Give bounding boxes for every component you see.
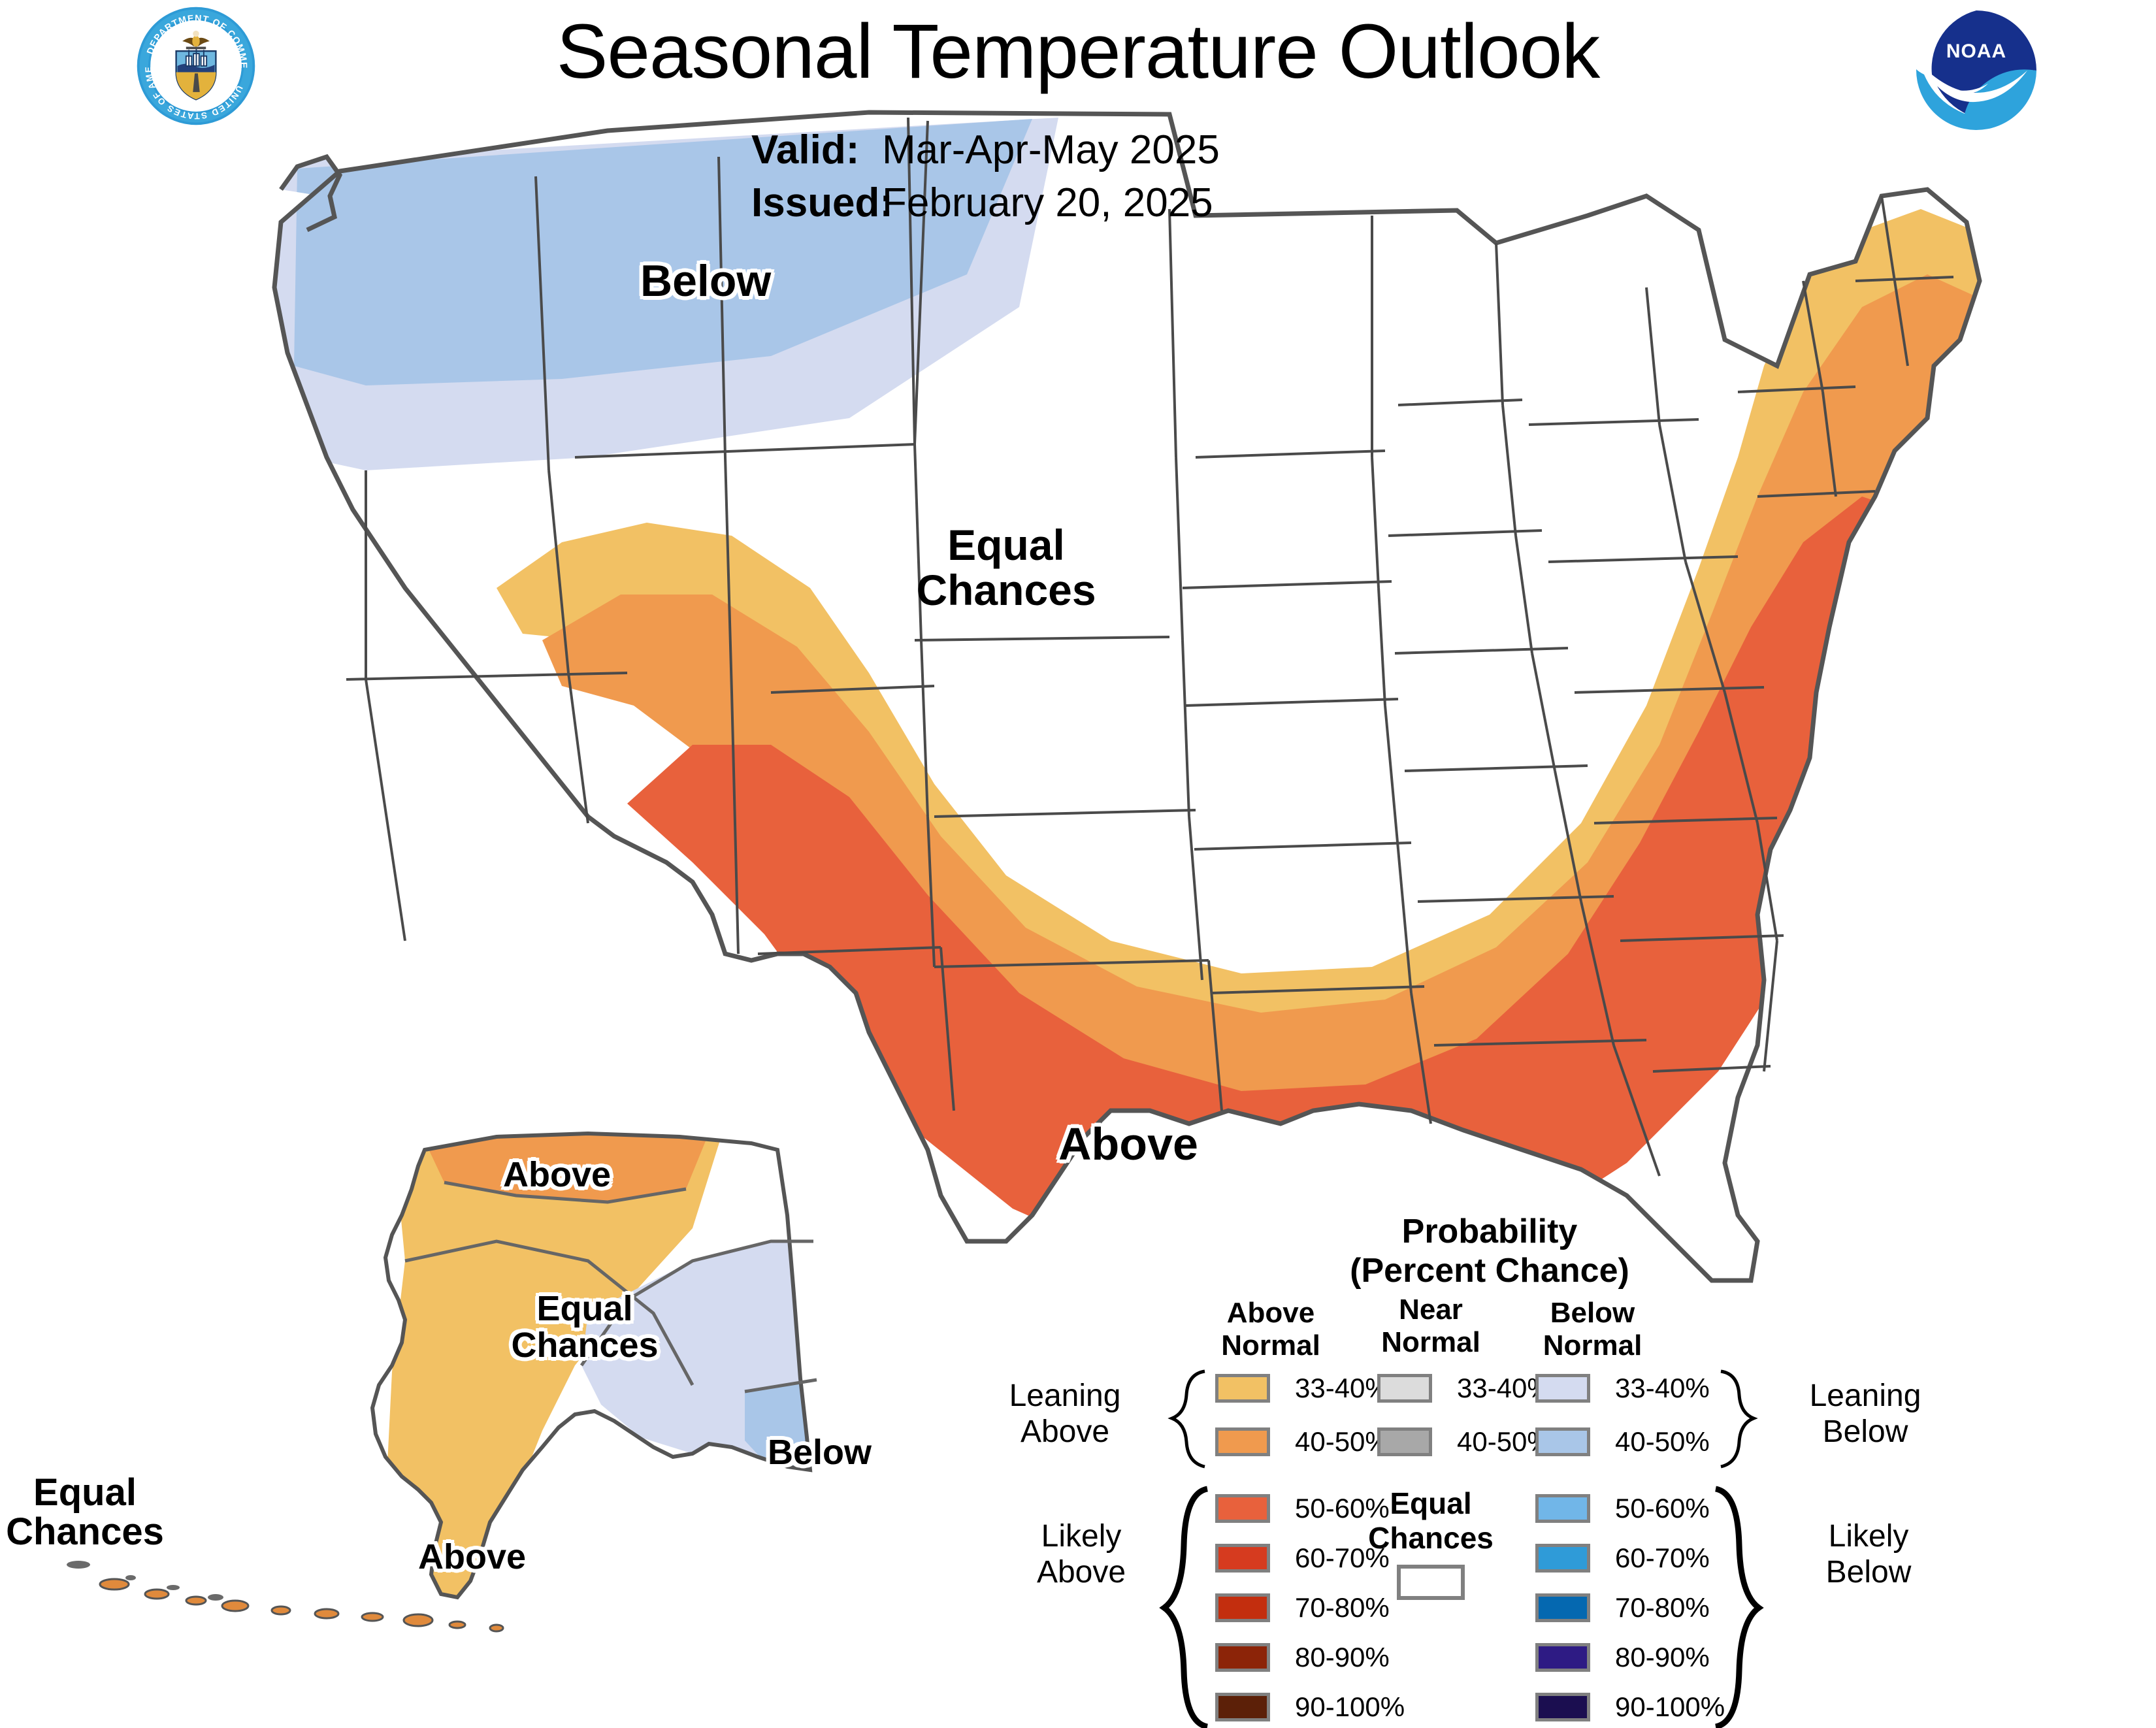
swatch-label-above-70-80: 70-80%: [1295, 1592, 1390, 1623]
swatch-label-below-70-80: 70-80%: [1615, 1592, 1710, 1623]
head-below-line1: Below: [1522, 1297, 1663, 1329]
issued-label: Issued:: [751, 177, 882, 230]
legend-group-likely-below: Likely Below: [1793, 1519, 1944, 1590]
legend-column-header-above-normal: Above Normal: [1202, 1297, 1339, 1362]
swatch-below-60-70: [1535, 1544, 1590, 1573]
legend-equal-chances-swatch: [1397, 1565, 1465, 1600]
swatch-below-70-80: [1535, 1593, 1590, 1622]
legend-ec-line1: Equal: [1352, 1486, 1509, 1521]
legend-group-likely-above: Likely Above: [1006, 1519, 1156, 1590]
swatch-above-33-40: [1215, 1374, 1270, 1403]
leaning-below-line1: Leaning: [1784, 1378, 1947, 1414]
swatch-below-40-50: [1535, 1427, 1590, 1456]
swatch-below-80-90: [1535, 1643, 1590, 1672]
head-below-line2: Normal: [1522, 1329, 1663, 1362]
leaning-below-line2: Below: [1784, 1414, 1947, 1450]
map-label-hawaii-equal-chances: Equal Chances: [6, 1473, 164, 1552]
valid-label: Valid:: [751, 124, 882, 177]
swatch-label-below-40-50: 40-50%: [1615, 1426, 1710, 1458]
equal-chances-line1: Equal: [916, 523, 1096, 568]
swatch-above-40-50: [1215, 1427, 1270, 1456]
swatch-label-below-90-100: 90-100%: [1615, 1691, 1725, 1723]
valid-line: Valid:Mar-Apr-May 2025: [751, 124, 1220, 177]
swatch-near-33-40: [1377, 1374, 1432, 1403]
likely-below-line2: Below: [1793, 1555, 1944, 1591]
swatch-above-50-60: [1215, 1494, 1270, 1523]
leaning-above-line1: Leaning: [980, 1378, 1150, 1414]
map-label-alaska-equal-chances: Equal Chances: [511, 1290, 658, 1363]
swatch-label-above-80-90: 80-90%: [1295, 1642, 1390, 1673]
swatch-above-70-80: [1215, 1593, 1270, 1622]
swatch-above-60-70: [1215, 1544, 1270, 1573]
outlook-period-block: Valid:Mar-Apr-May 2025 Issued:February 2…: [751, 124, 1220, 229]
map-label-below-northwest: Below: [640, 258, 771, 304]
likely-below-line1: Likely: [1793, 1519, 1944, 1555]
hawaii-equal-line2: Chances: [6, 1512, 164, 1552]
swatch-below-50-60: [1535, 1494, 1590, 1523]
alaska-equal-line2: Chances: [511, 1327, 658, 1363]
issued-value: February 20, 2025: [882, 180, 1213, 225]
legend-ec-line2: Chances: [1352, 1521, 1509, 1556]
swatch-label-below-50-60: 50-60%: [1615, 1493, 1710, 1524]
map-label-alaska-above-north: Above: [503, 1156, 611, 1193]
swatch-label-above-33-40: 33-40%: [1295, 1373, 1390, 1404]
swatch-label-above-40-50: 40-50%: [1295, 1426, 1390, 1458]
brace-likely-above: [1149, 1485, 1211, 1728]
head-near-line2: Normal: [1362, 1326, 1499, 1359]
legend-column-header-near-normal: Near Normal: [1362, 1294, 1499, 1359]
swatch-label-below-60-70: 60-70%: [1615, 1542, 1710, 1574]
probability-legend: Probability (Percent Chance) Above Norma…: [1000, 1212, 1927, 1656]
legend-group-leaning-above: Leaning Above: [980, 1378, 1150, 1450]
swatch-below-33-40: [1535, 1374, 1590, 1403]
map-label-aleutian-above: Above: [418, 1539, 526, 1575]
hawaii-equal-line1: Equal: [6, 1473, 164, 1512]
brace-likely-below: [1712, 1485, 1774, 1728]
legend-title-line2: (Percent Chance): [1339, 1251, 1640, 1290]
valid-value: Mar-Apr-May 2025: [882, 127, 1220, 172]
head-above-line1: Above: [1202, 1297, 1339, 1329]
likely-above-line2: Above: [1006, 1555, 1156, 1591]
swatch-label-below-33-40: 33-40%: [1615, 1373, 1710, 1404]
swatch-above-80-90: [1215, 1643, 1270, 1672]
issued-line: Issued:February 20, 2025: [751, 177, 1220, 230]
likely-above-line1: Likely: [1006, 1519, 1156, 1555]
alaska-equal-line1: Equal: [511, 1290, 658, 1327]
legend-equal-chances-label: Equal Chances: [1352, 1486, 1509, 1556]
map-label-equal-chances-conus: Equal Chances: [916, 523, 1096, 612]
equal-chances-line2: Chances: [916, 568, 1096, 613]
head-near-line1: Near: [1362, 1294, 1499, 1326]
brace-leaning-below: [1716, 1367, 1774, 1472]
swatch-label-above-90-100: 90-100%: [1295, 1691, 1405, 1723]
legend-column-header-below-normal: Below Normal: [1522, 1297, 1663, 1362]
map-label-above-south: Above: [1058, 1120, 1198, 1168]
swatch-near-40-50: [1377, 1427, 1432, 1456]
legend-group-leaning-below: Leaning Below: [1784, 1378, 1947, 1450]
legend-title: Probability (Percent Chance): [1339, 1212, 1640, 1291]
brace-leaning-above: [1151, 1367, 1210, 1472]
head-above-line2: Normal: [1202, 1329, 1339, 1362]
swatch-label-below-80-90: 80-90%: [1615, 1642, 1710, 1673]
map-label-alaska-below: Below: [768, 1434, 872, 1471]
legend-title-line1: Probability: [1339, 1212, 1640, 1251]
leaning-above-line2: Above: [980, 1414, 1150, 1450]
page-title: Seasonal Temperature Outlook: [0, 12, 2156, 93]
swatch-above-90-100: [1215, 1693, 1270, 1721]
swatch-below-90-100: [1535, 1693, 1590, 1721]
